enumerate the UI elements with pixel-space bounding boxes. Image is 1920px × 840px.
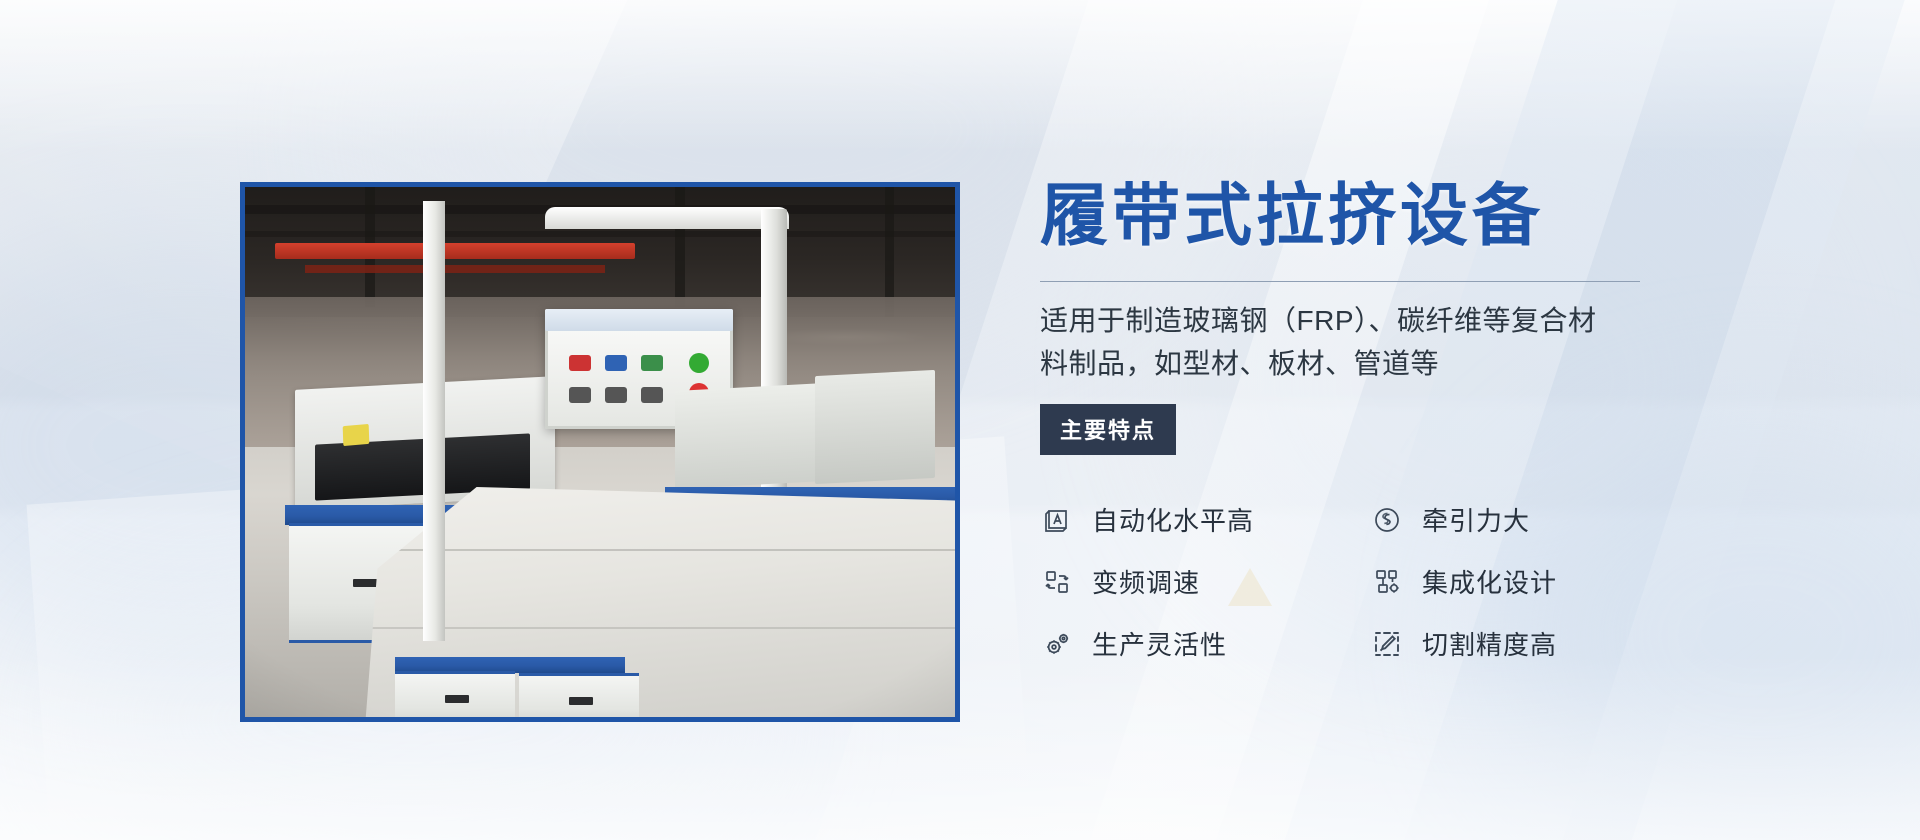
feature-item-automation: 自动化水平高 — [1040, 501, 1370, 538]
product-description-line-1: 适用于制造玻璃钢（FRP）、碳纤维等复合材 — [1040, 300, 1650, 343]
feature-grid: 自动化水平高 牵引力大 — [1040, 489, 1680, 675]
title-divider — [1040, 281, 1640, 282]
feature-label: 自动化水平高 — [1092, 501, 1254, 538]
product-photo-card — [240, 182, 960, 722]
feature-label: 集成化设计 — [1422, 563, 1557, 600]
feature-item-cutting-precision: 切割精度高 — [1370, 625, 1700, 662]
feature-item-flexibility: 生产灵活性 — [1040, 625, 1370, 662]
product-description-line-2: 料制品，如型材、板材、管道等 — [1040, 343, 1650, 386]
integrated-design-nodes-gear-icon — [1370, 565, 1404, 599]
product-banner: 履带式拉挤设备 适用于制造玻璃钢（FRP）、碳纤维等复合材 料制品，如型材、板材… — [0, 0, 1920, 840]
banner-content: 履带式拉挤设备 适用于制造玻璃钢（FRP）、碳纤维等复合材 料制品，如型材、板材… — [1040, 180, 1680, 675]
page-title: 履带式拉挤设备 — [1040, 180, 1680, 253]
feature-label: 变频调速 — [1092, 563, 1200, 600]
frequency-conversion-nodes-icon — [1040, 565, 1074, 599]
feature-label: 切割精度高 — [1422, 625, 1557, 662]
feature-item-integrated-design: 集成化设计 — [1370, 563, 1700, 600]
product-photo — [245, 187, 955, 717]
feature-item-traction: 牵引力大 — [1370, 501, 1700, 538]
main-features-badge: 主要特点 — [1040, 404, 1176, 455]
feature-item-frequency: 变频调速 — [1040, 563, 1370, 600]
feature-label: 生产灵活性 — [1092, 625, 1227, 662]
feature-label: 牵引力大 — [1422, 501, 1530, 538]
traction-circle-waves-icon — [1370, 503, 1404, 537]
photo-vignette — [245, 187, 955, 717]
cutting-precision-pen-icon — [1370, 627, 1404, 661]
automation-square-a-icon — [1040, 503, 1074, 537]
production-flexibility-gears-icon — [1040, 627, 1074, 661]
badge-row: 主要特点 — [1040, 404, 1680, 455]
product-description: 适用于制造玻璃钢（FRP）、碳纤维等复合材 料制品，如型材、板材、管道等 — [1040, 300, 1650, 385]
